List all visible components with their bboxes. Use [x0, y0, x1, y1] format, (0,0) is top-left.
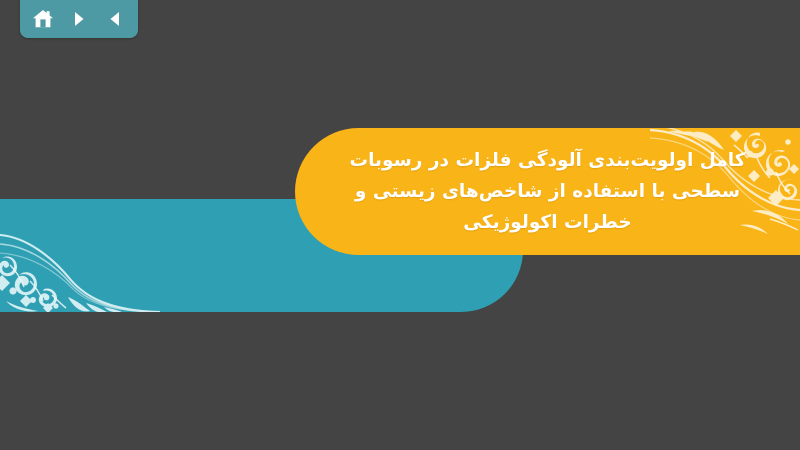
- orange-title-panel: [295, 128, 800, 255]
- teal-panel-arabesque-icon: [0, 199, 160, 312]
- left-triangle-icon: [106, 10, 124, 28]
- home-button[interactable]: [30, 6, 56, 32]
- right-triangle-icon: [70, 10, 88, 28]
- navigation-bar: [20, 0, 138, 38]
- home-icon: [32, 9, 54, 29]
- forward-button[interactable]: [66, 6, 92, 32]
- slide-canvas: کامل اولویت‌بندی آلودگی فلزات در رسوبات …: [0, 0, 800, 450]
- orange-panel-arabesque-icon: [650, 128, 800, 246]
- back-button[interactable]: [102, 6, 128, 32]
